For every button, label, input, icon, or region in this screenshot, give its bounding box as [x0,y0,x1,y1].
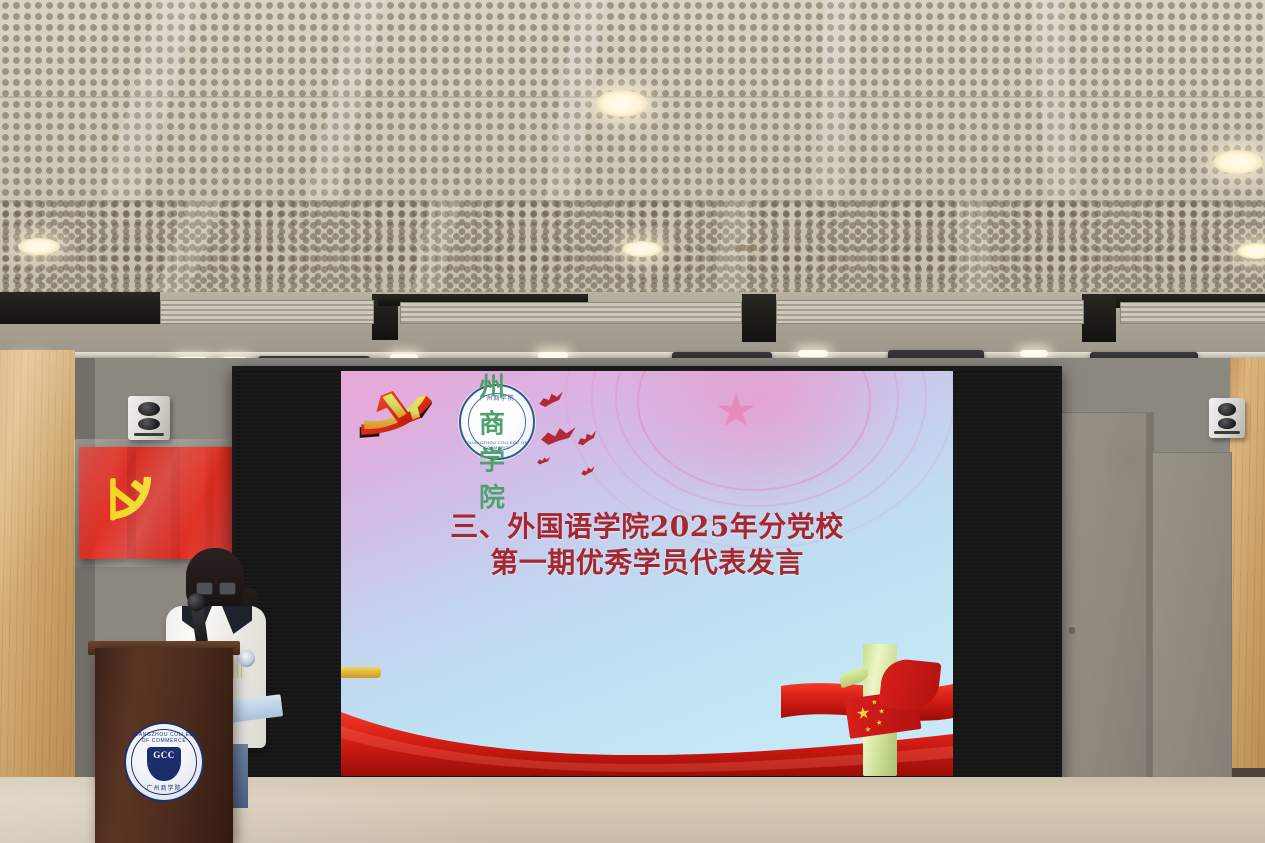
ceiling-downlight [18,238,60,255]
led-spot-light [798,350,828,357]
service-door-right-2[interactable] [1152,452,1232,780]
door-knob[interactable] [1069,626,1075,634]
speaker-driver [138,418,160,430]
air-grille [776,300,1084,324]
slide-title: 三、外国语学院2025年分党校 第一期优秀学员代表发言 [341,509,953,582]
school-badge [238,650,255,667]
presentation-slide: 广州商学院 广州商学院 GUANGZHOU COLLEGE OF COMMERC… [341,371,953,776]
air-grille [400,302,742,324]
party-emblem-icon [353,385,445,453]
ceiling-vent [735,245,757,251]
air-grille [1120,302,1265,324]
led-display-screen: 广州商学院 广州商学院 GUANGZHOU COLLEGE OF COMMERC… [232,366,1062,783]
flag-big-star [856,706,871,721]
wall-speaker-right [1209,398,1245,438]
led-spot-light [1020,350,1048,357]
bird-icon [536,456,551,467]
service-door-right[interactable] [1058,412,1148,780]
ceiling-downlight [622,241,662,257]
gcc-college-emblem: GUANGZHOU COLLEGE OF COMMERCE GCC 广州商学院 [126,724,202,800]
ceiling-downlight [596,90,648,117]
flag-small-star [876,719,883,726]
speaking-podium: GUANGZHOU COLLEGE OF COMMERCE GCC 广州商学院 [95,648,233,843]
cpc-party-flag [79,447,233,559]
speaker-driver [138,402,160,416]
speaker-driver [1218,418,1237,429]
wood-panel-sheen [0,350,75,793]
flag-small-star [878,708,885,715]
jacket-collar-right [222,606,252,634]
emblem-text-en: GUANGZHOU COLLEGE OF COMMERCE [126,732,202,744]
school-seal-icon: 广州商学院 广州商学院 GUANGZHOU COLLEGE OF COMMERC… [459,384,535,460]
wall-speaker-left [128,396,170,440]
air-grille [160,300,374,324]
emblem-letters: GCC [147,750,181,760]
speaker-slot [1214,431,1240,434]
wood-wall-panel-left [0,350,75,793]
bulkhead-recess [1082,294,1116,342]
seal-text-en: GUANGZHOU COLLEGE OF COMMERCE [461,440,533,450]
flag-small-star [871,699,878,706]
bulkhead-recess [742,294,776,342]
ceiling-downlight [1213,150,1263,174]
speaker-slot [134,433,164,436]
pillar-band [341,667,381,678]
slide-title-line-1: 三、外国语学院2025年分党校 [341,509,953,545]
flag-small-star [865,726,872,733]
slide-title-line-2: 第一期优秀学员代表发言 [341,545,953,581]
emblem-text-cn: 广州商学院 [126,783,202,792]
speaker-driver [1218,403,1237,416]
auditorium-scene: 广州商学院 广州商学院 GUANGZHOU COLLEGE OF COMMERC… [0,0,1265,843]
eyeglasses-icon [196,582,236,593]
wall-shadow [75,358,95,778]
bulkhead-recess [0,292,160,324]
ceiling [0,0,1265,300]
